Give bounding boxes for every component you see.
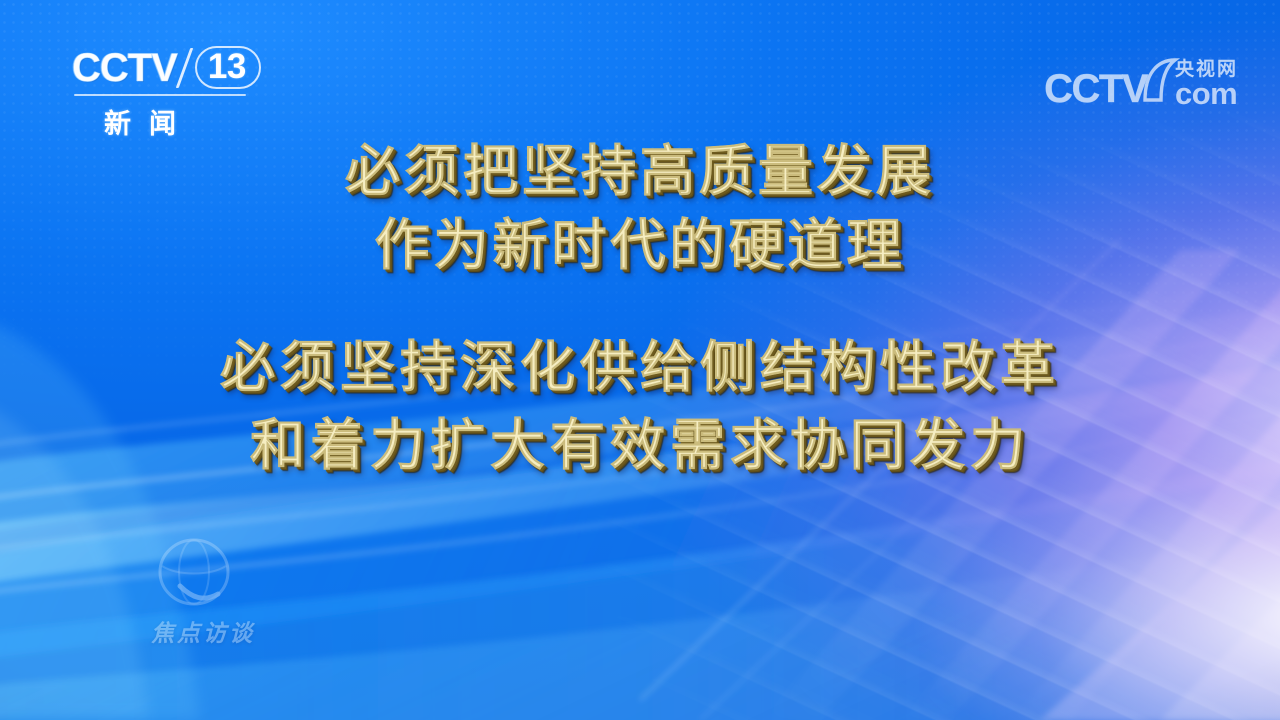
program-watermark: 焦点访谈: [108, 536, 298, 654]
watermark-wordmark-label: CCTV: [1044, 70, 1147, 108]
channel-network-label: CCTV: [72, 48, 177, 88]
focus-interview-globe-icon: [146, 536, 242, 614]
cctv13-channel-logo-icon: CCTV 13 新闻: [72, 46, 290, 138]
headline-block-1: 必须把坚持高质量发展 作为新时代的硬道理: [0, 134, 1280, 282]
headline-block-2: 必须坚持深化供给侧结构性改革 和着力扩大有效需求协同发力: [0, 328, 1280, 484]
channel-number-label: 13: [208, 47, 246, 86]
program-name-label: 焦点访谈: [108, 614, 298, 648]
broadcast-screen: CCTV 13 新闻 CCTV 央视网 com 必须把坚持高质量发展 作为新时代…: [0, 0, 1280, 720]
watermark-right-stack: 央视网 com: [1175, 60, 1238, 108]
channel-slash-icon: [176, 48, 194, 88]
headline-line: 必须坚持深化供给侧结构性改革: [0, 328, 1280, 406]
headline-area: 必须把坚持高质量发展 作为新时代的硬道理 必须坚持深化供给侧结构性改革 和着力扩…: [0, 134, 1280, 484]
channel-wordmark: CCTV 13: [72, 46, 261, 89]
channel-number-capsule: 13: [195, 46, 261, 89]
cctv-com-watermark: CCTV 央视网 com: [1044, 48, 1238, 108]
headline-line: 作为新时代的硬道理: [0, 208, 1280, 282]
cctv-swoosh-icon: [1141, 56, 1181, 108]
watermark-tld-label: com: [1175, 79, 1237, 108]
headline-line: 和着力扩大有效需求协同发力: [0, 406, 1280, 484]
headline-line: 必须把坚持高质量发展: [0, 134, 1280, 208]
channel-logo-underline: [74, 94, 246, 96]
